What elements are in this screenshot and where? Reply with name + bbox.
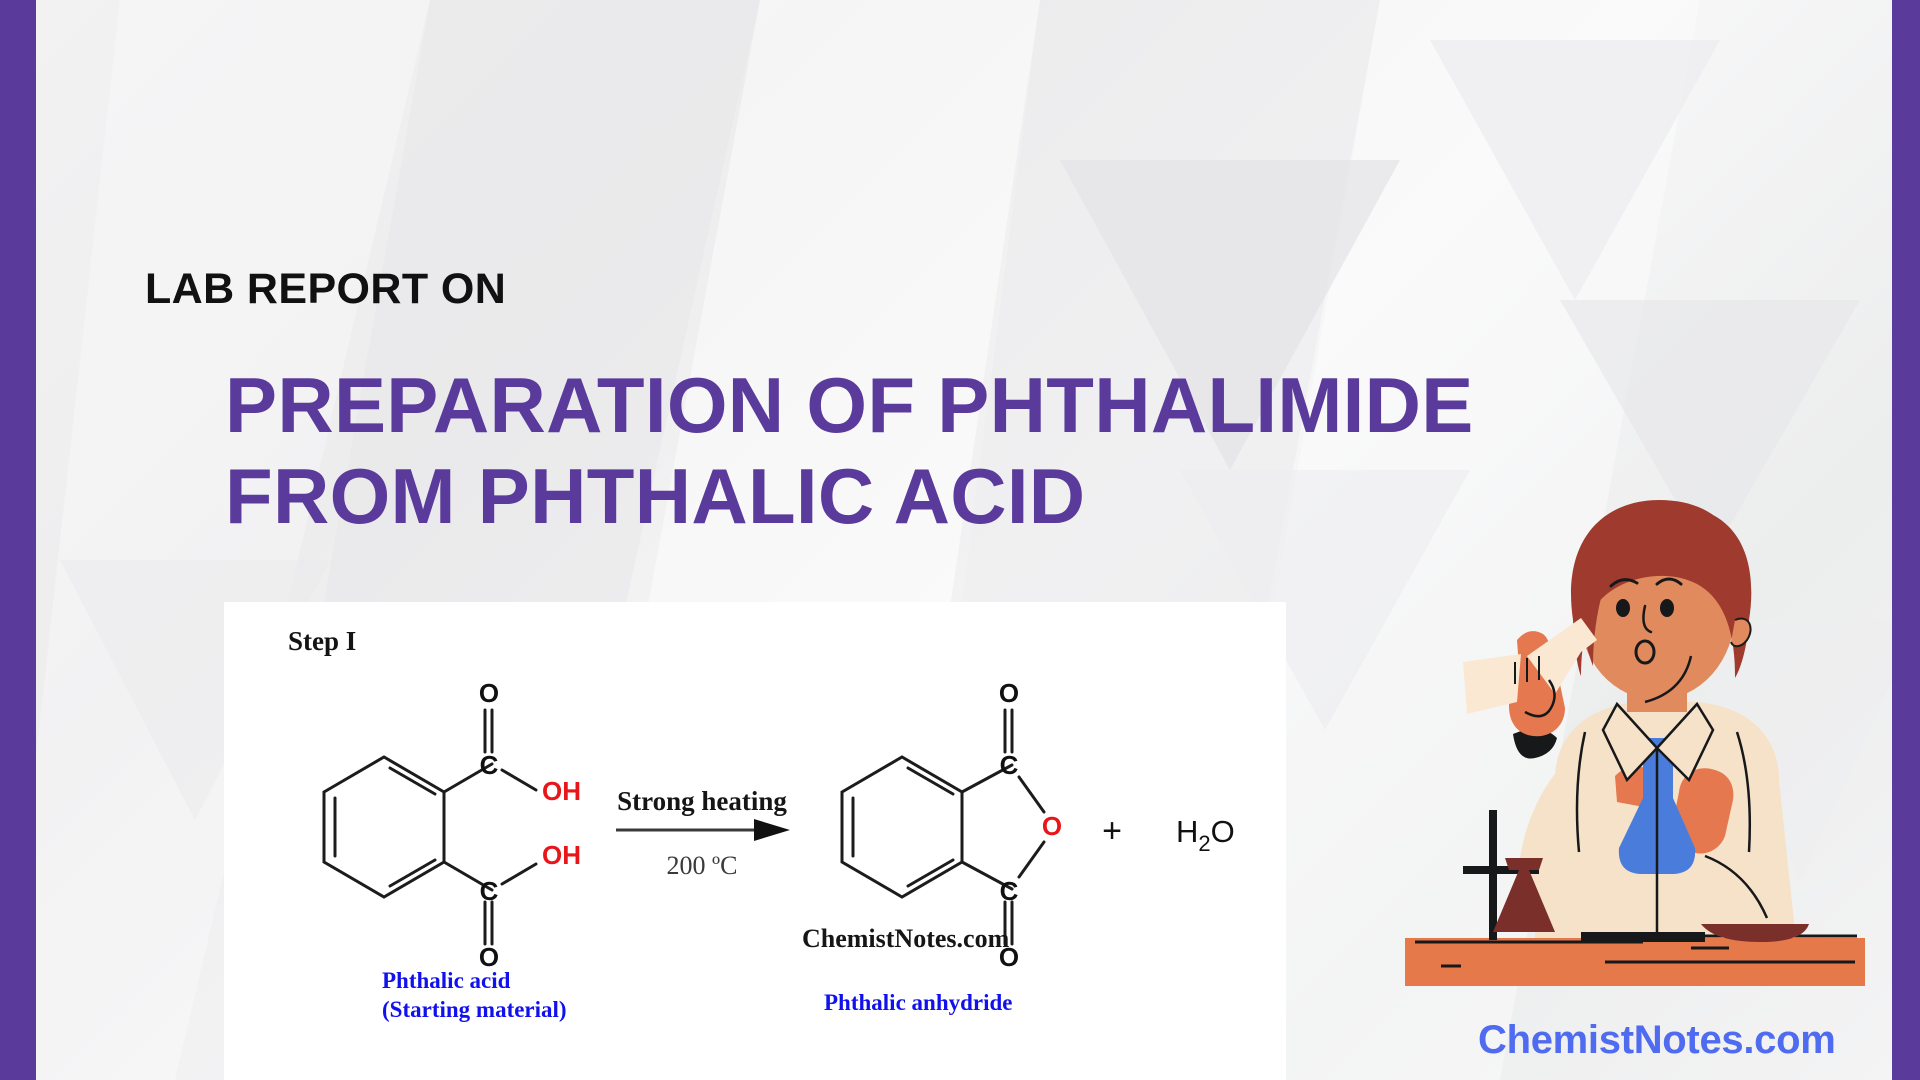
right-accent-bar <box>1892 0 1920 1080</box>
reactant-carbon-top: C <box>480 750 499 780</box>
product-ring-o: O <box>1042 811 1062 841</box>
water-o: O <box>1211 814 1235 849</box>
page-title: PREPARATION OF PHTHALIMIDE FROM PHTHALIC… <box>225 360 1555 543</box>
product-carbonyl-o-top: O <box>999 678 1019 708</box>
product-carbon-bottom: C <box>1000 876 1019 906</box>
arrow-bottom-label: 200 ºC <box>667 851 738 880</box>
left-accent-bar <box>0 0 36 1080</box>
reactant-caption-line-1: Phthalic acid <box>382 966 567 995</box>
water-subscript: 2 <box>1198 831 1210 856</box>
reactant-oh-bottom: OH <box>542 840 581 870</box>
slide-canvas: LAB REPORT ON PREPARATION OF PHTHALIMIDE… <box>0 0 1920 1080</box>
reaction-arrow-head <box>754 819 790 841</box>
water-formula: H2O <box>1176 814 1235 856</box>
bench-block <box>1581 932 1705 942</box>
reaction-diagram-card: Step I O C <box>224 602 1286 1080</box>
reactant-carbon-bottom: C <box>480 876 499 906</box>
page-title-line-2: FROM PHTHALIC ACID <box>225 451 1555 542</box>
product-caption: Phthalic anhydride <box>824 990 1013 1016</box>
stand-pole <box>1489 810 1497 940</box>
reactant-carbonyl-o-top: O <box>479 678 499 708</box>
left-eye <box>1616 599 1630 617</box>
right-eye <box>1660 599 1674 617</box>
reactant-oh-top: OH <box>542 776 581 806</box>
water-h: H <box>1176 814 1198 849</box>
diagram-inner-watermark: ChemistNotes.com <box>802 924 1009 954</box>
product-carbon-top: C <box>1000 750 1019 780</box>
arrow-top-label: Strong heating <box>617 786 787 816</box>
plus-sign: + <box>1102 812 1122 850</box>
kicker-text: LAB REPORT ON <box>145 268 506 311</box>
chemist-illustration <box>1405 480 1885 1025</box>
reactant-caption-line-2: (Starting material) <box>382 995 567 1024</box>
reactant-caption: Phthalic acid (Starting material) <box>382 966 567 1025</box>
site-watermark: ChemistNotes.com <box>1478 1018 1836 1063</box>
page-title-line-1: PREPARATION OF PHTHALIMIDE <box>225 361 1474 449</box>
bench-edge <box>1405 972 1865 986</box>
